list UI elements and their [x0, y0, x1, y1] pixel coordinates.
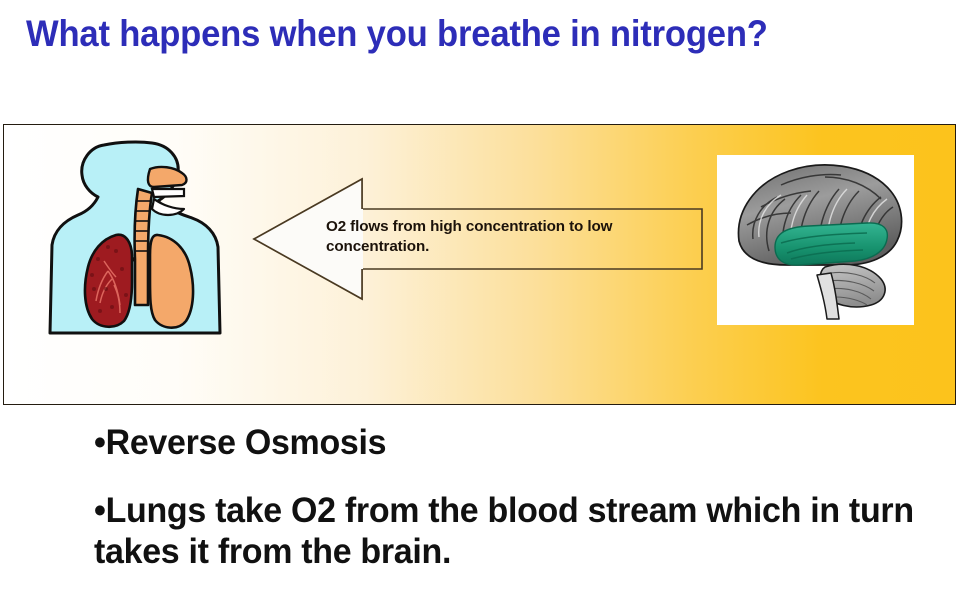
bullet-item-1: •Reverse Osmosis — [94, 422, 924, 463]
arrow-label: O2 flows from high concentration to low … — [326, 217, 688, 257]
diagram-panel: O2 flows from high concentration to low … — [3, 124, 956, 405]
bullet-list: •Reverse Osmosis •Lungs take O2 from the… — [94, 422, 950, 572]
brain-image-card — [717, 155, 914, 325]
bullet-item-2: •Lungs take O2 from the blood stream whi… — [94, 490, 924, 572]
respiratory-system-image — [42, 139, 232, 339]
flow-arrow-callout: O2 flows from high concentration to low … — [250, 169, 706, 311]
page-title: What happens when you breathe in nitroge… — [26, 9, 886, 61]
